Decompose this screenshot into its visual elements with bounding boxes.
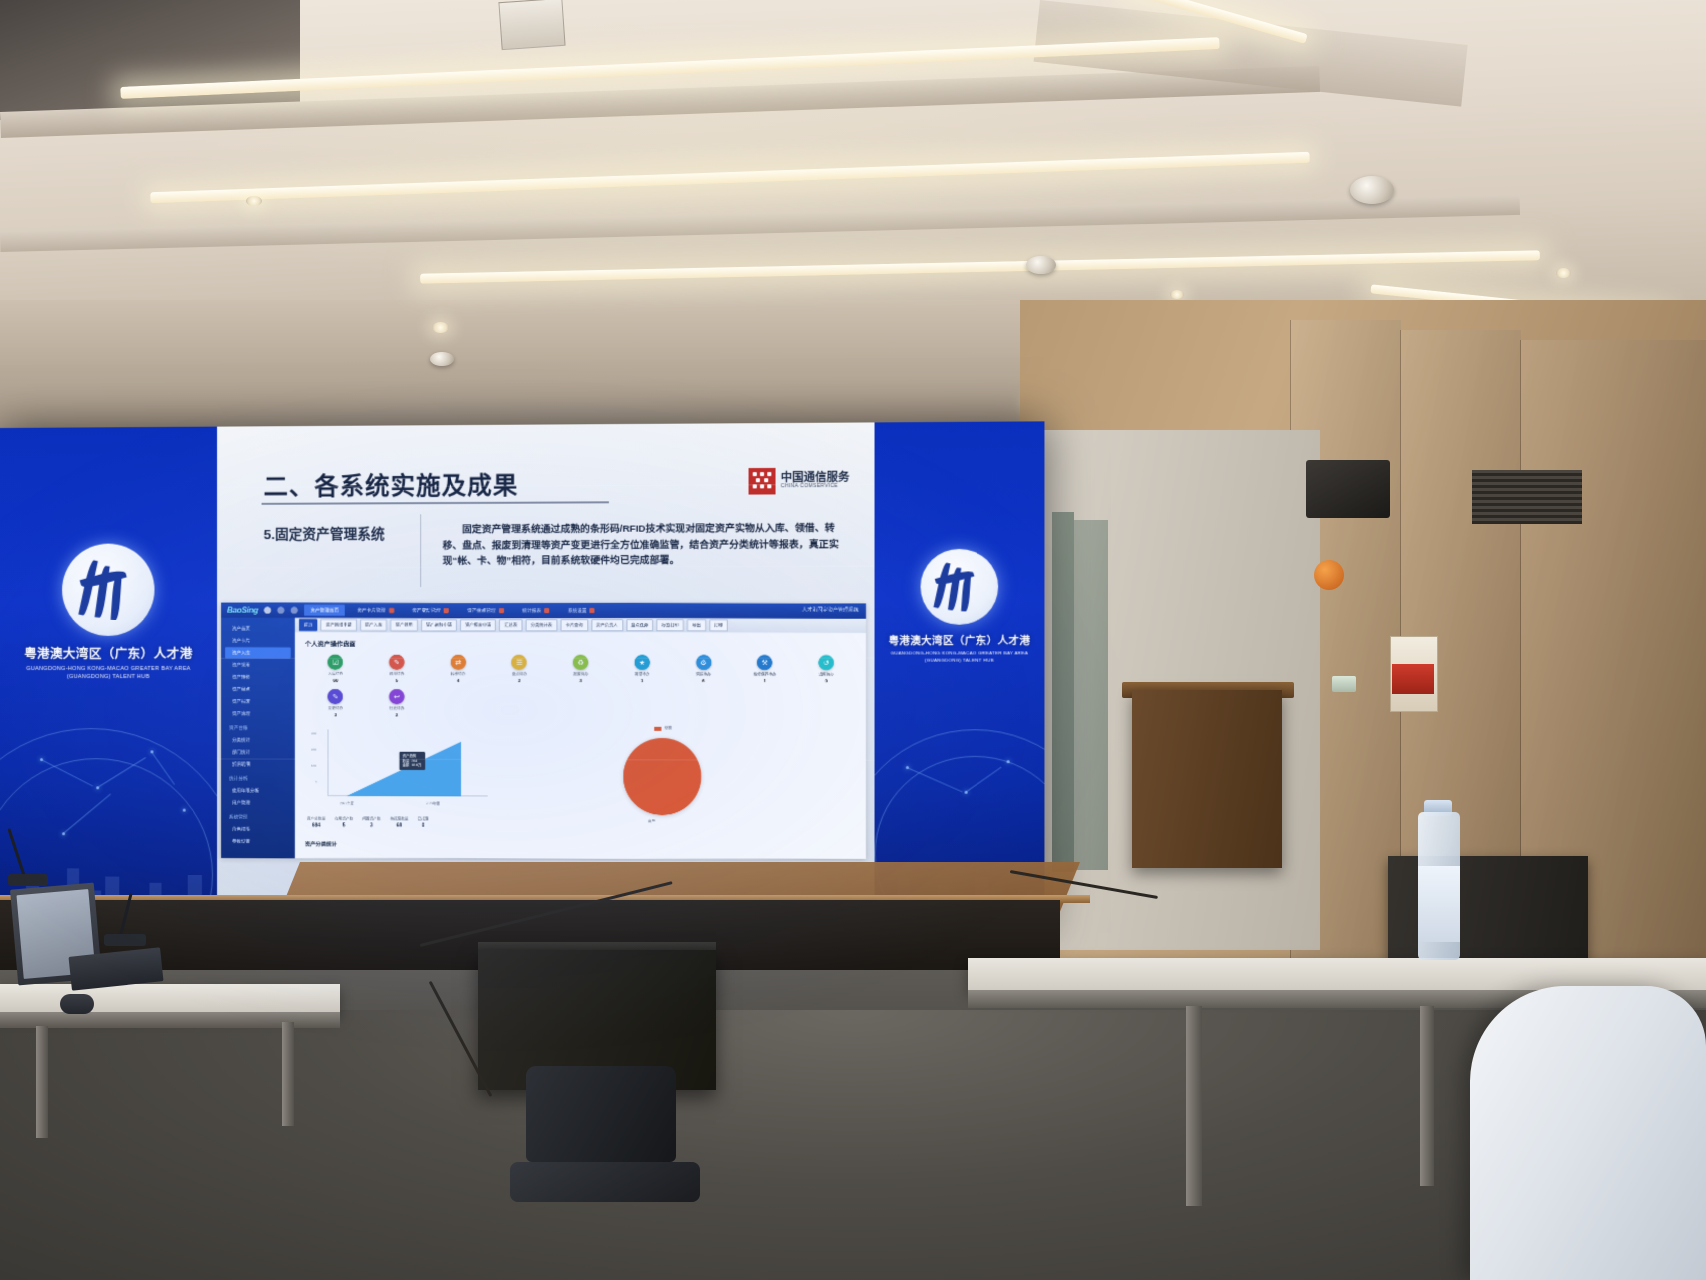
- app-title-bar: BaoSing 资产管理首页 资产卡片管理 资产变动管理: [221, 603, 866, 619]
- ceiling-speaker-3: [430, 352, 454, 366]
- led-left-brand-en2: (GUANGDONG) TALENT HUB: [0, 673, 217, 681]
- stat-value: 68: [396, 823, 402, 829]
- sidebar-item-6[interactable]: 资产报废: [225, 696, 291, 707]
- sidebar-label: 资产领用: [232, 662, 250, 668]
- toolbar-button-9[interactable]: 资产负责人: [591, 619, 623, 631]
- app-tab-label: 资产盘点管理: [467, 607, 495, 613]
- carpet: [0, 1010, 1706, 1280]
- led-right-brand-en2: (GUANGDONG) TALENT HUB: [875, 657, 1045, 664]
- toolbar-button-12[interactable]: 导出: [687, 619, 706, 631]
- chair-seat: [510, 1162, 700, 1202]
- mouse[interactable]: [60, 994, 94, 1014]
- conference-room-scene: 粤港澳大湾区（广东）人才港 GUANGDONG-HONG KONG-MACAO …: [0, 0, 1706, 1280]
- stat-cell-1: 在用资产数 5: [335, 817, 353, 829]
- slide-divider: [420, 514, 421, 587]
- toolbar-label: 盘点任务: [631, 622, 648, 628]
- op-label: 盘点待办: [512, 672, 527, 677]
- slide-title: 二、各系统实施及成果: [264, 465, 519, 502]
- app-content-area: 个人资产操作盘面 ☑ 入库待办 68 ✎ 领用待办 5: [295, 632, 866, 859]
- toolbar-button-6[interactable]: 汇总表: [499, 619, 522, 631]
- sidebar-item-1[interactable]: 资产卡片: [225, 635, 291, 646]
- op-count: 1: [763, 678, 766, 683]
- op-item-7[interactable]: ⚒ 维修保养待办 1: [734, 655, 795, 683]
- slide-section-label: 5.固定资产管理系统: [264, 522, 385, 543]
- toolbar-label: 资产入库: [365, 622, 382, 628]
- led-right-brand: 粤港澳大湾区（广东）人才港 GUANGDONG-HONG KONG-MACAO …: [875, 549, 1045, 664]
- toolbar-label: 资产负责人: [596, 622, 618, 628]
- toolbar-label: 汇总表: [504, 622, 517, 628]
- tab-close-icon: [389, 608, 394, 613]
- op-count: 68: [333, 678, 338, 683]
- china-comservice-logo: 中国通信服务 CHINA COMSERVICE: [749, 468, 850, 495]
- pie-legend: 总额: [654, 726, 672, 731]
- chart-y-axis: [327, 729, 328, 796]
- toolbar-button-10[interactable]: 盘点任务: [626, 619, 654, 631]
- sidebar-label: 角色权限: [232, 826, 250, 832]
- app-sidebar: 资产首页 资产卡片 资产入库 资产领用 资产转移 资产盘点 资产报废 资产清理 …: [221, 618, 295, 858]
- wall-display[interactable]: [1306, 460, 1390, 518]
- app-tab-0[interactable]: 资产管理首页: [304, 605, 345, 616]
- sidebar-label: 资产转移: [232, 674, 250, 680]
- sidebar-label: 参数设置: [232, 838, 250, 844]
- chair-backrest: [526, 1066, 676, 1162]
- chart-y-tick: 300: [311, 731, 485, 735]
- stat-value: 684: [312, 823, 321, 829]
- ceiling-vent: [498, 0, 565, 50]
- microphone-base-1: [8, 874, 48, 886]
- tab-close-icon: [499, 608, 504, 613]
- op-item-4[interactable]: ♻ 报废待办 3: [550, 655, 611, 683]
- op-label: 调拨待办: [696, 672, 711, 677]
- legend-label: 总额: [664, 726, 671, 731]
- ceiling-speaker-2: [1026, 256, 1056, 274]
- op-item-2[interactable]: ⇄ 转移待办 4: [427, 655, 488, 683]
- toolbar-label: 资产转移申请: [426, 622, 452, 628]
- app-close-icon[interactable]: [291, 607, 298, 614]
- sidebar-item-5[interactable]: 资产盘点: [225, 684, 291, 695]
- op-label: 转移待办: [451, 672, 466, 677]
- op-count: 4: [457, 678, 460, 683]
- downlight-5: [1556, 268, 1571, 278]
- stat-label: 闲置资产数: [362, 817, 380, 822]
- tab-close-icon: [590, 608, 595, 613]
- op-count: 3: [334, 712, 337, 717]
- toolbar-button-4[interactable]: 资产转移申请: [421, 619, 457, 631]
- stat-cell-3: 待报废数量 68: [390, 817, 408, 829]
- app-tab-2[interactable]: 资产变动管理: [406, 605, 455, 616]
- app-toolbar: 首页 资产新增申请 资产入库 资产领用 资产转移申请 资产报废申请 汇总表 分类…: [295, 618, 866, 633]
- toolbar-button-13[interactable]: 打印: [709, 619, 728, 631]
- person-foreground: [1470, 986, 1706, 1280]
- op-count: 0: [825, 678, 828, 683]
- app-tab-label: 资产管理首页: [310, 607, 338, 613]
- op-label: 退库待办: [819, 672, 834, 677]
- panel-header: 个人资产操作盘面: [305, 639, 356, 648]
- sidebar-sub-3[interactable]: 使用年限分析: [225, 785, 291, 796]
- sidebar-group-label: 资产台账: [229, 725, 248, 731]
- tab-close-icon: [544, 608, 549, 613]
- toolbar-button-8[interactable]: 卡片查询: [560, 619, 587, 631]
- app-tab-label: 统计报表: [522, 608, 541, 614]
- stat-cell-4: 已报废 0: [418, 817, 429, 829]
- op-icon: ↩: [389, 689, 404, 704]
- app-minimize-icon[interactable]: [278, 607, 285, 614]
- sidebar-label: 资产入库: [232, 650, 250, 656]
- led-left-brand-cn: 粤港澳大湾区（广东）人才港: [0, 643, 217, 662]
- op-label: 清理待办: [634, 672, 649, 677]
- led-video-wall[interactable]: 粤港澳大湾区（广东）人才港 GUANGDONG-HONG KONG-MACAO …: [0, 421, 1044, 932]
- microphone-base-2: [104, 934, 146, 946]
- toolbar-button-7[interactable]: 分类统计表: [526, 619, 558, 631]
- sidebar-sub-2[interactable]: 折旧明细: [225, 759, 291, 770]
- stat-label: 已报废: [418, 817, 429, 822]
- toolbar-label: 资产报废申请: [465, 622, 491, 628]
- ceiling-speaker-1: [1350, 176, 1394, 204]
- stat-label: 在用资产数: [335, 817, 353, 822]
- op-label: 入库待办: [328, 672, 343, 677]
- title-underline: [262, 501, 609, 505]
- toolbar-label: 资产领用: [396, 622, 413, 628]
- toolbar-label: 分类统计表: [531, 622, 553, 628]
- stat-cell-2: 闲置资产数 3: [362, 817, 380, 829]
- network-dot: [183, 809, 186, 812]
- sidebar-label: 部门统计: [232, 749, 250, 755]
- toolbar-label: 卡片查询: [566, 622, 583, 628]
- sidebar-group-0: 资产台账: [225, 723, 291, 733]
- toolbar-label: 导出: [692, 622, 701, 628]
- asset-stat-row: 资产总数量 684 在用资产数 5 闲置资产数 3: [307, 817, 429, 829]
- sidebar-sub-5[interactable]: 角色权限: [225, 824, 291, 835]
- conference-table-leg-1: [1186, 1006, 1202, 1206]
- sidebar-label: 资产清理: [232, 711, 250, 717]
- chart-tooltip: 资产趋势 数量: 264 金额: 18.6万: [399, 752, 424, 770]
- chart-x-tick-1: 2023年度: [426, 801, 440, 806]
- sidebar-item-4[interactable]: 资产转移: [225, 672, 291, 683]
- sidebar-label: 用户管理: [232, 800, 250, 806]
- sidebar-label: 使用年限分析: [232, 788, 259, 794]
- op-icon: ✎: [328, 689, 343, 704]
- wall-poster-red-block: [1392, 664, 1434, 694]
- downlight-2: [432, 322, 449, 333]
- led-right-panel: 粤港澳大湾区（广东）人才港 GUANGDONG-HONG KONG-MACAO …: [875, 421, 1045, 932]
- sidebar-label: 资产首页: [232, 625, 250, 631]
- sidebar-group-label: 系统管理: [229, 814, 248, 820]
- comservice-mark-icon: [749, 468, 776, 495]
- stat-cell-0: 资产总数量 684: [307, 817, 325, 829]
- legend-swatch: [654, 726, 661, 730]
- app-tab-3[interactable]: 资产盘点管理: [461, 605, 510, 616]
- talent-hub-sail-logo: [62, 543, 154, 635]
- office-chair[interactable]: [510, 1066, 720, 1280]
- op-item-9[interactable]: ✎ 变更待办 3: [305, 689, 366, 717]
- sidebar-label: 资产盘点: [232, 686, 250, 692]
- sidebar-label: 折旧明细: [232, 761, 250, 767]
- sidebar-group-1: 统计分析: [225, 774, 291, 784]
- op-label: 归还待办: [389, 706, 404, 711]
- exit-sign: [1332, 676, 1356, 692]
- operation-shortcut-grid: ☑ 入库待办 68 ✎ 领用待办 5 ⇄ 转移待办: [305, 654, 858, 724]
- sidebar-item-3[interactable]: 资产领用: [225, 659, 291, 670]
- app-tab-label: 资产变动管理: [412, 607, 440, 613]
- op-item-10[interactable]: ↩ 归还待办 2: [366, 689, 427, 717]
- stat-value: 5: [342, 823, 345, 829]
- op-count: 6: [702, 678, 705, 683]
- asset-trend-chart: 300 200 100 0 2022年度 2023年度 资产趋势 数量: 264…: [305, 729, 488, 808]
- op-item-8[interactable]: ↺ 退库待办 0: [795, 655, 856, 683]
- slide-paragraph: 固定资产管理系统通过成熟的条形码/RFID技术实现对固定资产实物从入库、领借、转…: [443, 521, 846, 570]
- lectern: [1132, 690, 1282, 868]
- sidebar-label: 资产卡片: [232, 638, 250, 644]
- network-dot: [1007, 760, 1010, 763]
- op-count: 3: [579, 678, 582, 683]
- app-tab-label: 系统设置: [568, 608, 587, 614]
- led-left-brand-en1: GUANGDONG-HONG KONG-MACAO GREATER BAY AR…: [0, 665, 217, 673]
- app-home-icon[interactable]: [264, 607, 271, 614]
- led-left-panel: 粤港澳大湾区（广东）人才港 GUANGDONG-HONG KONG-MACAO …: [0, 427, 217, 928]
- sidebar-label: 分类统计: [232, 737, 250, 743]
- sidebar-item-0[interactable]: 资产首页: [225, 623, 291, 634]
- sidebar-sub-6[interactable]: 参数设置: [225, 836, 291, 847]
- stats-section-header: 资产分类统计: [305, 841, 337, 848]
- decorative-ball: [1314, 560, 1344, 590]
- chart-x-tick-0: 2022年度: [340, 800, 354, 805]
- led-right-brand-cn: 粤港澳大湾区（广东）人才港: [875, 632, 1045, 648]
- led-left-brand: 粤港澳大湾区（广东）人才港 GUANGDONG-HONG KONG-MACAO …: [0, 543, 217, 682]
- op-count: 2: [395, 712, 398, 717]
- toolbar-label: 标签打印: [662, 622, 679, 628]
- left-desk: [0, 984, 340, 1014]
- sidebar-group-2: 系统管理: [225, 812, 291, 822]
- presentation-slide: 二、各系统实施及成果 中国通信服务 CHINA COMSERVICE 5.固定资…: [217, 422, 874, 931]
- downlight-6: [1170, 290, 1184, 299]
- sidebar-item-2[interactable]: 资产入库: [225, 647, 291, 658]
- app-tab-5[interactable]: 系统设置: [562, 605, 601, 616]
- toolbar-label: 首页: [304, 622, 313, 628]
- toolbar-button-11[interactable]: 标签打印: [656, 619, 684, 631]
- left-desk-leg: [282, 1022, 294, 1126]
- toolbar-button-0[interactable]: 首页: [299, 619, 318, 631]
- op-label: 维修保养待办: [753, 672, 776, 677]
- wall-speaker-grille: [1472, 470, 1582, 524]
- ceiling-dark-corner: [0, 0, 300, 120]
- sidebar-group-label: 统计分析: [229, 776, 248, 782]
- asset-management-app-screenshot: BaoSing 资产管理首页 资产卡片管理 资产变动管理: [221, 603, 866, 859]
- app-tab-label: 资产卡片管理: [357, 607, 385, 613]
- app-system-title: 人才港固定资产管理系统: [802, 606, 859, 613]
- stat-value: 3: [370, 823, 373, 829]
- app-tab-4[interactable]: 统计报表: [516, 605, 555, 616]
- sidebar-item-7[interactable]: 资产清理: [225, 708, 291, 719]
- conference-table-leg-2: [1420, 1006, 1434, 1186]
- door-panel: [1074, 520, 1108, 870]
- bottle-label: [1418, 866, 1460, 942]
- downlight-1: [246, 196, 262, 206]
- op-item-6[interactable]: ⚙ 调拨待办 6: [673, 655, 734, 683]
- asset-pie-chart: [623, 738, 701, 815]
- pie-caption: 资产: [648, 819, 655, 824]
- op-label: 报废待办: [573, 672, 588, 677]
- sidebar-sub-0[interactable]: 分类统计: [225, 734, 291, 745]
- sidebar-label: 资产报废: [232, 698, 250, 704]
- app-tab-1[interactable]: 资产卡片管理: [351, 605, 400, 616]
- stat-value: 0: [422, 823, 425, 829]
- stat-label: 资产总数量: [307, 817, 325, 822]
- sidebar-sub-4[interactable]: 用户管理: [225, 797, 291, 808]
- toolbar-button-1[interactable]: 资产新增申请: [321, 619, 357, 631]
- app-logo: BaoSing: [227, 606, 258, 615]
- tab-close-icon: [444, 608, 449, 613]
- toolbar-button-3[interactable]: 资产领用: [390, 619, 417, 631]
- op-count: 2: [518, 678, 521, 683]
- op-count: 5: [395, 678, 398, 683]
- sidebar-sub-1[interactable]: 部门统计: [225, 747, 291, 758]
- op-icon: ✎: [389, 655, 404, 670]
- left-desk-leg: [36, 1026, 48, 1138]
- door-frame: [1052, 512, 1074, 872]
- tooltip-line2: 金额: 18.6万: [402, 763, 421, 768]
- toolbar-label: 资产新增申请: [326, 622, 352, 628]
- op-label: 领用待办: [389, 672, 404, 677]
- stat-label: 待报废数量: [390, 817, 408, 822]
- op-item-5[interactable]: ★ 清理待办 1: [611, 655, 672, 683]
- toolbar-button-2[interactable]: 资产入库: [360, 619, 387, 631]
- toolbar-button-5[interactable]: 资产报废申请: [460, 619, 496, 631]
- op-count: 1: [641, 678, 644, 683]
- toolbar-label: 打印: [714, 622, 723, 628]
- op-icon: ☑: [328, 654, 343, 669]
- op-item-3[interactable]: ☰ 盘点待办 2: [489, 655, 550, 683]
- talent-hub-sail-logo: [921, 549, 999, 625]
- op-label: 变更待办: [328, 706, 343, 711]
